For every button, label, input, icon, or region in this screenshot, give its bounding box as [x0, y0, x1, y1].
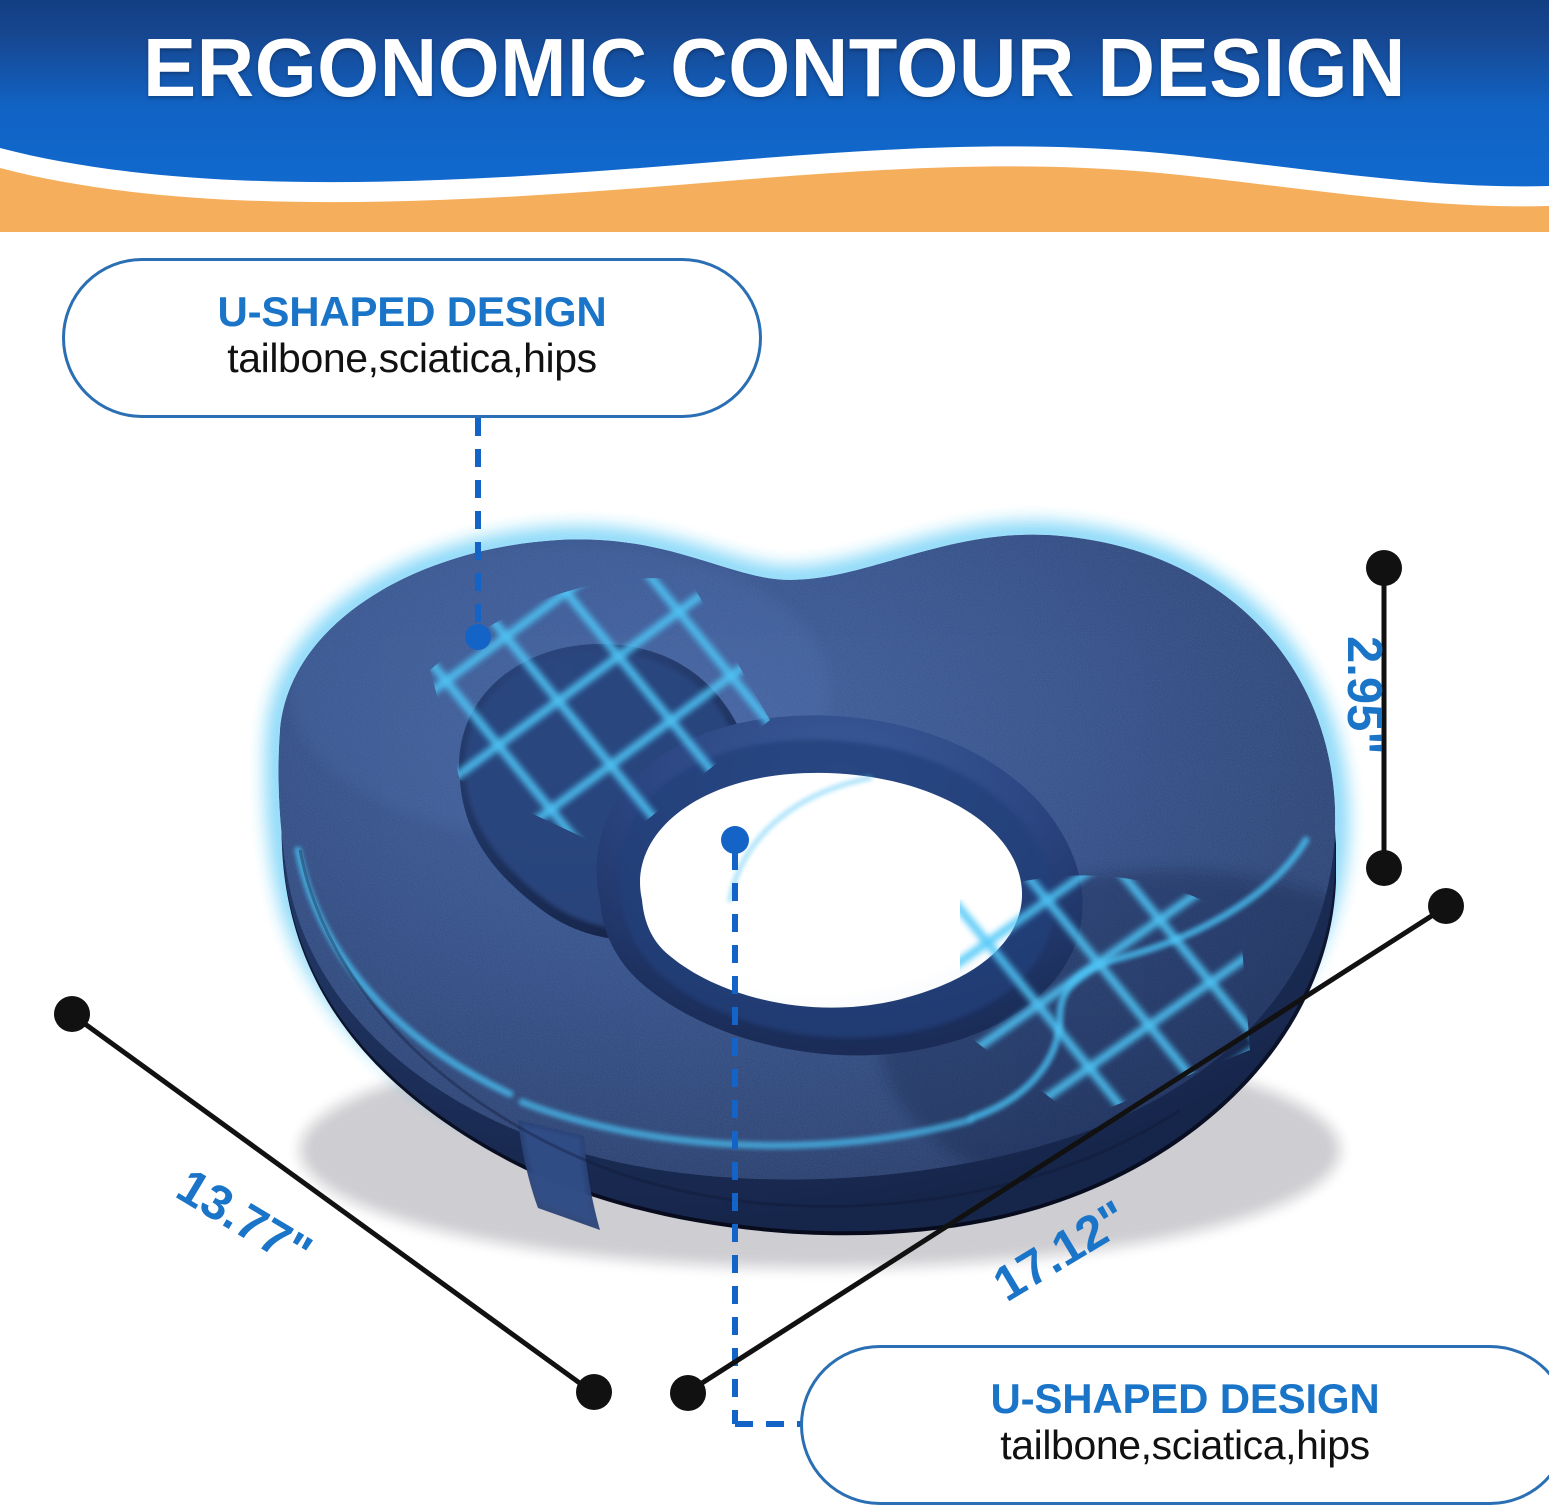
dim-dot-depth-start	[670, 1375, 706, 1411]
dimension-label-height: 2.95"	[1336, 636, 1392, 755]
callout-top-subtitle: tailbone,sciatica,hips	[227, 336, 597, 382]
callout-top-title: U-SHAPED DESIGN	[217, 290, 606, 335]
product-image-donut-cushion	[130, 430, 1420, 1290]
infographic-canvas: ERGONOMIC CONTOUR DESIGN	[0, 0, 1549, 1500]
dim-dot-width-start	[54, 996, 90, 1032]
header-banner: ERGONOMIC CONTOUR DESIGN	[0, 0, 1549, 232]
callout-u-shaped-design-top: U-SHAPED DESIGN tailbone,sciatica,hips	[62, 258, 762, 418]
callout-u-shaped-design-bottom: U-SHAPED DESIGN tailbone,sciatica,hips	[800, 1345, 1549, 1505]
dim-dot-depth-end	[1428, 888, 1464, 924]
page-title: ERGONOMIC CONTOUR DESIGN	[31, 26, 1518, 109]
callout-bottom-subtitle: tailbone,sciatica,hips	[1000, 1423, 1370, 1469]
dim-dot-width-end	[576, 1374, 612, 1410]
callout-bottom-title: U-SHAPED DESIGN	[990, 1377, 1379, 1422]
